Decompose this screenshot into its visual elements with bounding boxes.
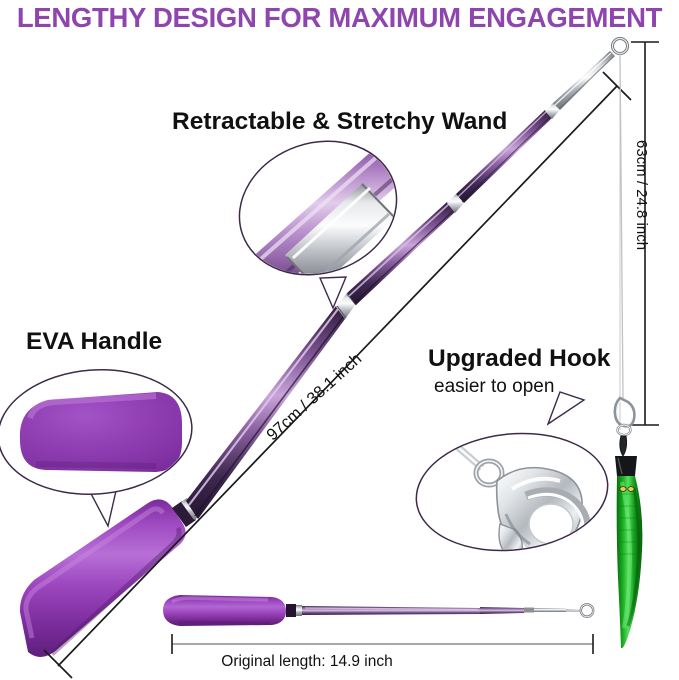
retracted-wand bbox=[163, 595, 593, 626]
measurement-original-length: Original length: 14.9 inch bbox=[221, 653, 392, 671]
label-eva-handle: EVA Handle bbox=[26, 328, 162, 356]
label-retractable-wand: Retractable & Stretchy Wand bbox=[172, 108, 507, 136]
product-infographic: LENGTHY DESIGN FOR MAXIMUM ENGAGEMENT bbox=[0, 0, 679, 680]
lobster-clasp-hook bbox=[615, 398, 635, 456]
label-upgraded-hook-sub: easier to open bbox=[434, 376, 554, 398]
callout-wand-joint bbox=[221, 120, 420, 308]
callout-upgraded-hook bbox=[410, 392, 613, 562]
green-worm-lure bbox=[617, 476, 643, 648]
callout-eva-handle bbox=[0, 363, 196, 526]
bottom-dimension-line bbox=[172, 634, 593, 654]
measurement-vertical: 63cm / 24.8 inch bbox=[633, 140, 650, 250]
wand-tip-loop bbox=[613, 39, 628, 54]
label-upgraded-hook: Upgraded Hook bbox=[428, 345, 610, 373]
eva-handle bbox=[20, 499, 186, 657]
